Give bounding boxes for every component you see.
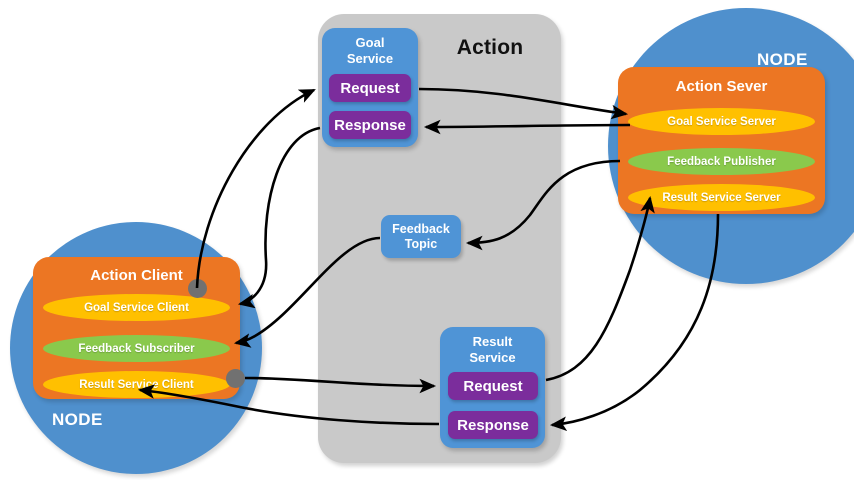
arrow-goal-response-to-client (240, 128, 320, 304)
action-client-box: Action Client Goal Service Client Feedba… (33, 257, 240, 399)
result-service-request: Request (448, 372, 538, 400)
goal-service-client-pill: Goal Service Client (43, 294, 230, 321)
result-service-title: Result Service (440, 334, 545, 366)
feedback-topic-line1: Feedback (392, 222, 450, 236)
result-service-title-line1: Result (473, 334, 513, 349)
feedback-topic-title: Feedback Topic (392, 222, 450, 252)
action-container-label: Action (430, 36, 550, 60)
result-service-box: Result Service Request Response (440, 327, 545, 448)
feedback-topic-box: Feedback Topic (381, 215, 461, 258)
action-client-title: Action Client (33, 267, 240, 284)
goal-service-title-line2: Service (347, 51, 393, 66)
client-node-label: NODE (52, 410, 103, 430)
action-server-box: Action Sever Goal Service Server Feedbac… (618, 67, 825, 214)
result-service-client-pill: Result Service Client (43, 371, 230, 398)
feedback-topic-line2: Topic (405, 237, 437, 251)
server-node-label: NODE (757, 50, 808, 70)
goal-service-response: Response (329, 111, 411, 139)
result-service-server-pill: Result Service Server (628, 184, 815, 211)
goal-service-title: Goal Service (322, 35, 418, 67)
result-client-junction-dot (226, 369, 245, 388)
action-server-title: Action Sever (618, 78, 825, 95)
goal-client-junction-dot (188, 279, 207, 298)
result-service-title-line2: Service (469, 350, 515, 365)
diagram-canvas: Action Action Client Goal Service Client… (0, 0, 854, 480)
result-service-response: Response (448, 411, 538, 439)
goal-service-server-pill: Goal Service Server (628, 108, 815, 135)
feedback-publisher-pill: Feedback Publisher (628, 148, 815, 175)
feedback-subscriber-pill: Feedback Subscriber (43, 335, 230, 362)
goal-service-box: Goal Service Request Response (322, 28, 418, 147)
goal-service-request: Request (329, 74, 411, 102)
goal-service-title-line1: Goal (356, 35, 385, 50)
